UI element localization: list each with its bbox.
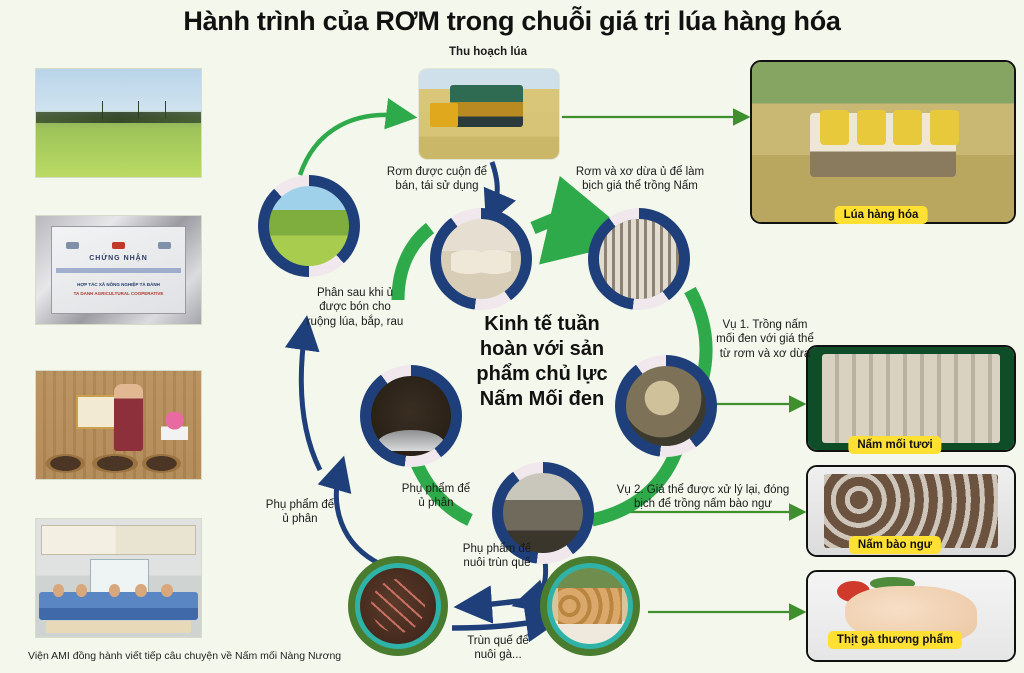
rice-field-photo <box>35 68 202 178</box>
label-byproduct-worm-l1: Phụ phẩm để <box>442 542 552 556</box>
page-title: Hành trình của RƠM trong chuỗi giá trị l… <box>0 6 1024 37</box>
node-compost <box>360 365 462 467</box>
label-crop-2: Vụ 2. Giá thể được xử lý lại, đóng bịch … <box>608 483 798 512</box>
center-line-3: phẩm chủ lực <box>452 362 632 387</box>
label-crop-2-l2: bịch để trồng nấm bào ngư <box>608 497 798 511</box>
label-crop-1-l1: Vụ 1. Trồng nấm <box>700 318 830 332</box>
badge-oyster-mushroom: Nấm bào ngư <box>849 536 941 554</box>
product-card-commercial-rice <box>750 60 1016 224</box>
label-byproduct-left-l1: Phụ phẩm để <box>250 498 350 512</box>
infographic-canvas: Hành trình của RƠM trong chuỗi giá trị l… <box>0 0 1024 673</box>
label-byproduct-mid-l1: Phụ phẩm để <box>386 482 486 496</box>
center-title: Kinh tế tuần hoàn với sản phẩm chủ lực N… <box>452 312 632 412</box>
node-straw-bale <box>430 208 532 310</box>
badge-chicken-meat: Thịt gà thương phẩm <box>828 631 962 649</box>
label-byproduct-left: Phụ phẩm để ủ phân <box>250 498 350 527</box>
label-straw-roll-l1: Rơm được cuộn để <box>372 165 502 179</box>
label-byproduct-mid: Phụ phẩm để ủ phân <box>386 482 486 511</box>
label-fertilizer: Phân sau khi ủ được bón cho ruộng lúa, b… <box>290 286 420 329</box>
harvest-label: Thu hoạch lúa <box>418 46 558 58</box>
badge-fresh-termite-mushroom: Nấm mối tươi <box>848 436 941 454</box>
label-crop-1-l3: từ rơm và xơ dừa <box>700 347 830 361</box>
label-crop-2-l1: Vụ 2. Giá thể được xử lý lại, đóng <box>608 483 798 497</box>
node-earthworm <box>348 556 448 656</box>
award-display-photo <box>35 370 202 480</box>
certificate-photo: CHỨNG NHẬN HỢP TÁC XÃ NÔNG NGHIỆP TÀ ĐÀN… <box>35 215 202 325</box>
label-worm-chicken-l1: Trùn quế để <box>448 634 548 648</box>
label-straw-roll-l2: bán, tái sử dụng <box>372 179 502 193</box>
certificate-heading: CHỨNG NHẬN <box>36 255 201 262</box>
label-byproduct-worm-l2: nuôi trùn quế <box>442 556 552 570</box>
label-byproduct-mid-l2: ủ phân <box>386 496 486 510</box>
label-coir-compost-l2: bịch giá thể trồng Nấm <box>560 179 720 193</box>
label-worm-chicken-l2: nuôi gà... <box>448 648 548 662</box>
node-substrate-bags <box>588 208 690 310</box>
label-crop-1: Vụ 1. Trồng nấm mối đen với giá thể từ r… <box>700 318 830 361</box>
center-line-2: hoàn với sản <box>452 337 632 362</box>
center-line-1: Kinh tế tuần <box>452 312 632 337</box>
label-straw-roll: Rơm được cuộn để bán, tái sử dụng <box>372 165 502 194</box>
meeting-photo <box>35 518 202 638</box>
node-rice-field <box>258 175 360 277</box>
label-fertilizer-l3: ruộng lúa, bắp, rau <box>290 315 420 329</box>
label-worm-chicken: Trùn quế để nuôi gà... <box>448 634 548 663</box>
label-coir-compost: Rơm và xơ dừa ủ để làm bịch giá thể trồn… <box>560 165 720 194</box>
node-chicken <box>540 556 640 656</box>
footer-caption: Viện AMI đồng hành viết tiếp câu chuyện … <box>28 650 388 662</box>
label-crop-1-l2: mối đen với giá thể <box>700 332 830 346</box>
label-fertilizer-l2: được bón cho <box>290 300 420 314</box>
certificate-line2: TA DANH AGRICULTURAL COOPERATIVE <box>49 291 188 296</box>
badge-commercial-rice: Lúa hàng hóa <box>835 206 928 224</box>
label-coir-compost-l1: Rơm và xơ dừa ủ để làm <box>560 165 720 179</box>
label-fertilizer-l1: Phân sau khi ủ <box>290 286 420 300</box>
label-byproduct-left-l2: ủ phân <box>250 512 350 526</box>
label-byproduct-worm: Phụ phẩm để nuôi trùn quế <box>442 542 552 571</box>
certificate-line1: HỢP TÁC XÃ NÔNG NGHIỆP TÀ ĐÀNH <box>49 282 188 287</box>
center-line-4: Nấm Mối đen <box>452 387 632 412</box>
harvest-photo <box>418 68 560 160</box>
